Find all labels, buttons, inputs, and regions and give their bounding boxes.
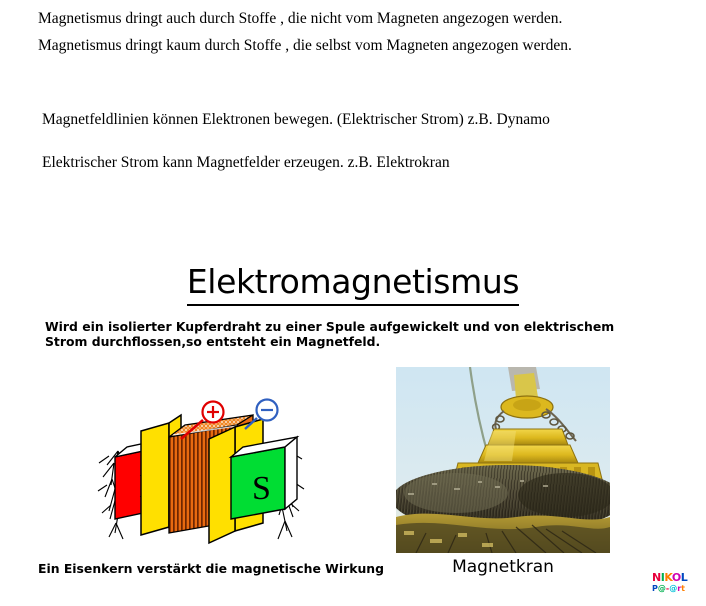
page-title: Elektromagnetismus [0, 262, 706, 301]
south-pole-label: S [252, 470, 271, 507]
statement-line-2: Magnetismus dringt kaum durch Stoffe , d… [38, 37, 572, 54]
body-text-line-2: Strom durchflossen,so entsteht ein Magne… [45, 334, 380, 349]
electromagnet-diagram: N [85, 393, 320, 548]
clipart-logo: NIKOL P@-@rt [652, 572, 700, 596]
south-pole-block: S [231, 437, 297, 519]
electromagnetic-crane-photo [396, 367, 610, 553]
body-text-line-1: Wird ein isolierter Kupferdraht zu einer… [45, 319, 614, 334]
scrap-ground [396, 514, 610, 553]
clipart-logo-subtitle: P@-@rt [652, 584, 700, 593]
page-title-text: Elektromagnetismus [187, 262, 519, 306]
statement-line-4: Elektrischer Strom kann Magnetfelder erz… [42, 154, 450, 171]
statement-line-3: Magnetfeldlinien können Elektronen beweg… [42, 111, 550, 128]
slide-canvas: Magnetismus dringt auch durch Stoffe , d… [0, 0, 706, 606]
statement-line-1: Magnetismus dringt auch durch Stoffe , d… [38, 10, 562, 27]
clipart-logo-word: NIKOL [652, 572, 700, 583]
electromagnet-caption: Ein Eisenkern verstärkt die magnetische … [38, 561, 384, 576]
crane-photo-caption: Magnetkran [396, 557, 610, 577]
